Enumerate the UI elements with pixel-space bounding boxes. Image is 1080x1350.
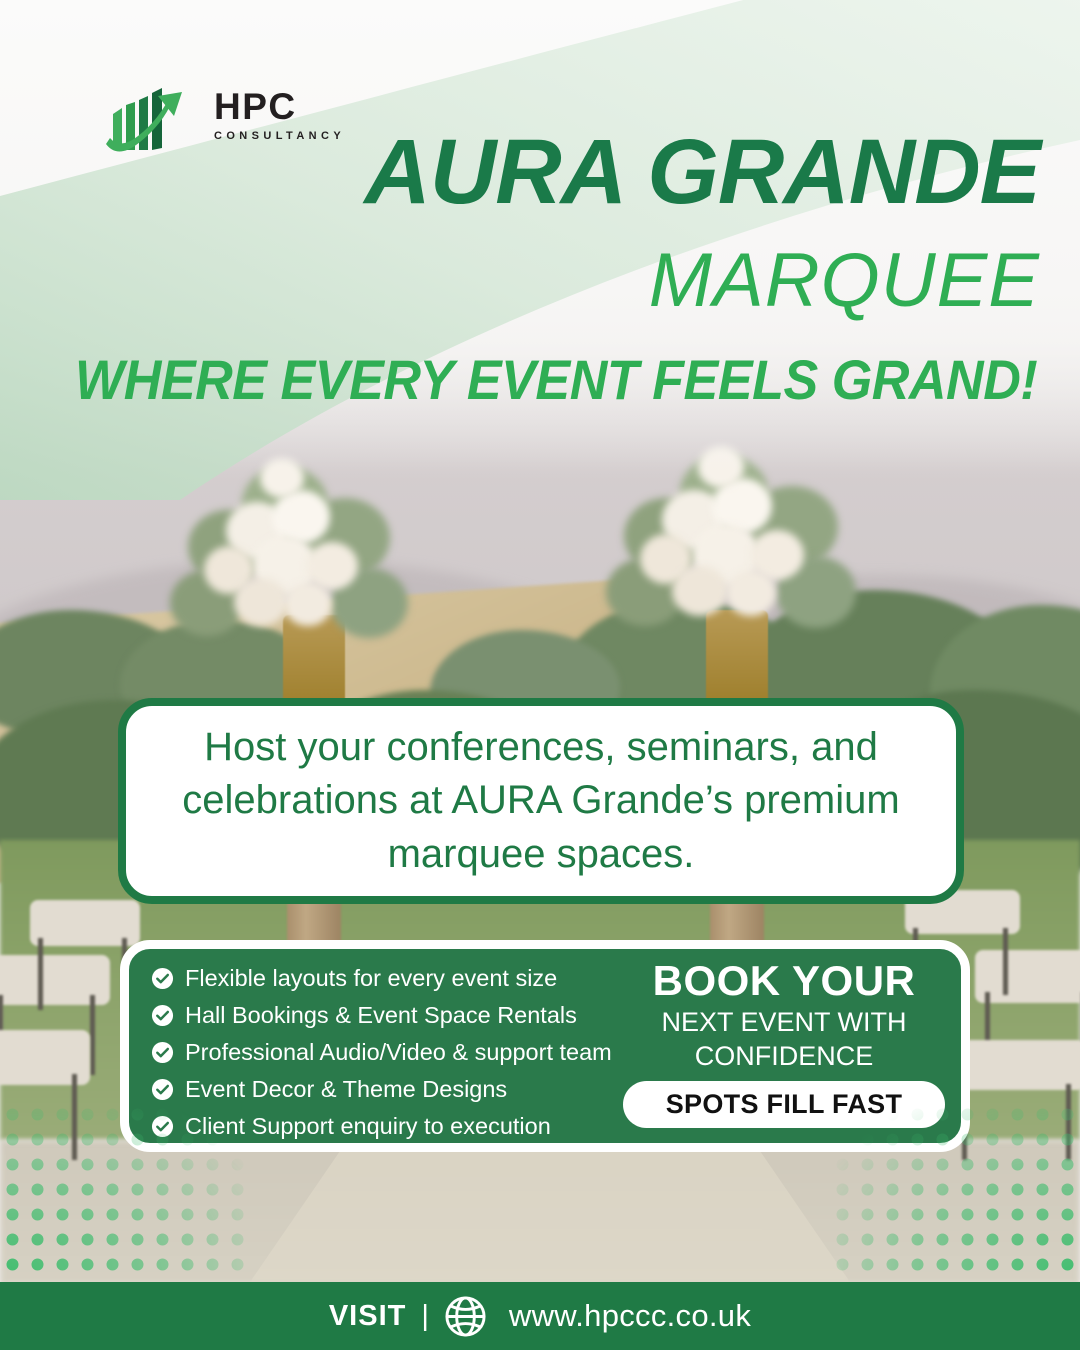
website-url[interactable]: www.hpccc.co.uk <box>509 1298 751 1334</box>
globe-icon <box>444 1295 487 1338</box>
check-circle-icon <box>151 1078 174 1101</box>
visit-label: VISIT <box>329 1300 407 1333</box>
cta-headline: BOOK YOUR <box>623 959 945 1003</box>
footer-separator: | <box>421 1300 429 1333</box>
cta-subline-2: CONFIDENCE <box>623 1040 945 1072</box>
feature-item: Flexible layouts for every event size <box>151 963 623 994</box>
logo-subtitle: CONSULTANCY <box>214 130 345 142</box>
logo-name: HPC <box>214 88 345 125</box>
description-card: Host your conferences, seminars, and cel… <box>118 698 964 904</box>
logo-wordmark: HPC CONSULTANCY <box>214 88 345 142</box>
header-area: HPC CONSULTANCY AURA GRANDE MARQUEE WHER… <box>0 0 1080 480</box>
cta-subline-1: NEXT EVENT WITH <box>623 1006 945 1040</box>
footer-bar: VISIT | www.hpccc.co.uk <box>0 1282 1080 1350</box>
halftone-dots-left <box>0 1102 250 1282</box>
bar-chart-growth-arrow-icon <box>96 76 206 158</box>
poster-canvas: HPC CONSULTANCY AURA GRANDE MARQUEE WHER… <box>0 0 1080 1350</box>
feature-label: Hall Bookings & Event Space Rentals <box>185 1000 577 1031</box>
halftone-dots-right <box>830 1102 1080 1282</box>
feature-item: Hall Bookings & Event Space Rentals <box>151 1000 623 1031</box>
brand-logo: HPC CONSULTANCY <box>96 76 306 162</box>
feature-label: Professional Audio/Video & support team <box>185 1037 612 1068</box>
check-circle-icon <box>151 1041 174 1064</box>
title-secondary: MARQUEE <box>330 243 1040 319</box>
feature-item: Event Decor & Theme Designs <box>151 1074 623 1105</box>
feature-label: Flexible layouts for every event size <box>185 963 557 994</box>
check-circle-icon <box>151 1004 174 1027</box>
check-circle-icon <box>151 967 174 990</box>
feature-item: Professional Audio/Video & support team <box>151 1037 623 1068</box>
description-text: Host your conferences, seminars, and cel… <box>126 721 956 881</box>
tagline: WHERE EVERY EVENT FEELS GRAND! <box>75 352 1005 408</box>
title-primary: AURA GRANDE <box>330 128 1040 216</box>
feature-label: Event Decor & Theme Designs <box>185 1074 507 1105</box>
